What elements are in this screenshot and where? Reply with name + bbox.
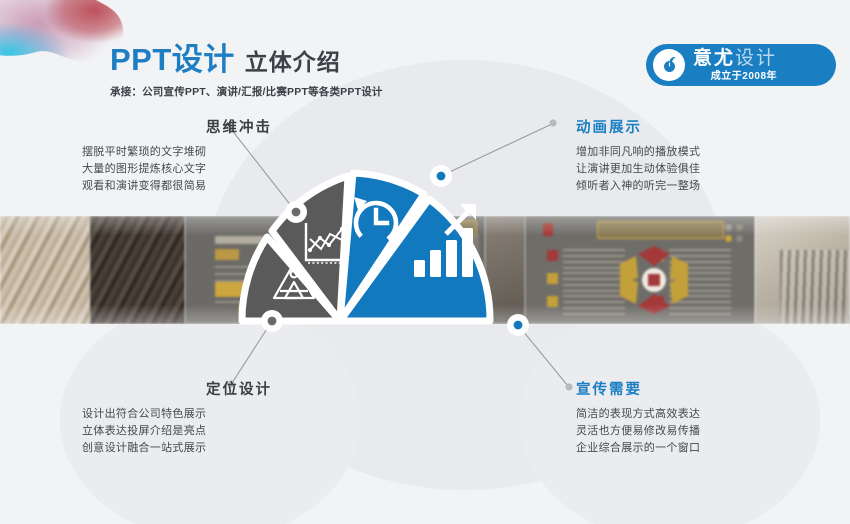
logo-name-bold: 意尤 xyxy=(693,48,735,69)
page-title-group: PPT设计立体介绍 承接：公司宣传PPT、演讲/汇报/比赛PPT等各类PPT设计 xyxy=(110,44,383,99)
feature-block-bottom-right: 宣传需要 简洁的表现方式高效表达 灵活也方便易修改易传播 企业综合展示的一个窗口 xyxy=(576,382,806,457)
feature-line-2: 大量的图形提炼核心文字 xyxy=(82,163,206,175)
feature-body: 增加非同凡响的播放模式 让演讲更加生动体验俱佳 倾听者入神的听完一整场 xyxy=(576,144,806,195)
logo-name-light: 设计 xyxy=(735,48,777,69)
feature-heading: 定位设计 xyxy=(82,382,304,399)
feature-body: 简洁的表现方式高效表达 灵活也方便易修改易传播 企业综合展示的一个窗口 xyxy=(576,406,806,457)
logo-name: 意尤设计 xyxy=(693,49,777,68)
feature-block-top-right: 动画展示 增加非同凡响的播放模式 让演讲更加生动体验俱佳 倾听者入神的听完一整场 xyxy=(576,120,806,195)
logo-text-group: 意尤设计 成立于2008年 xyxy=(693,49,777,82)
feature-line-3: 观看和演讲变得都很简易 xyxy=(82,180,206,192)
feature-line-2: 让演讲更加生动体验俱佳 xyxy=(576,163,700,175)
logo-badge xyxy=(653,49,685,81)
feature-line-1: 设计出符合公司特色展示 xyxy=(82,408,206,420)
slide-canvas: PPT设计立体介绍 承接：公司宣传PPT、演讲/汇报/比赛PPT等各类PPT设计… xyxy=(0,0,850,524)
brand-logo[interactable]: 意尤设计 成立于2008年 xyxy=(646,44,836,86)
feature-block-top-left: 思维冲击 摆脱平时繁琐的文字堆砌 大量的图形提炼核心文字 观看和演讲变得都很简易 xyxy=(82,120,304,195)
feature-line-2: 灵活也方便易修改易传播 xyxy=(576,425,700,437)
feature-line-2: 立体表达投屏介绍是亮点 xyxy=(82,425,206,437)
page-title: PPT设计立体介绍 xyxy=(110,44,383,75)
title-main-text: PPT设计 xyxy=(110,42,235,77)
feature-block-bottom-left: 定位设计 设计出符合公司特色展示 立体表达投屏介绍是亮点 创意设计融合一站式展示 xyxy=(82,382,304,457)
feature-body: 摆脱平时繁琐的文字堆砌 大量的图形提炼核心文字 观看和演讲变得都很简易 xyxy=(82,144,304,195)
feature-line-1: 增加非同凡响的播放模式 xyxy=(576,146,700,158)
feature-line-3: 创意设计融合一站式展示 xyxy=(82,442,206,454)
mouse-icon xyxy=(658,54,680,76)
feature-body: 设计出符合公司特色展示 立体表达投屏介绍是亮点 创意设计融合一站式展示 xyxy=(82,406,304,457)
page-subtitle: 承接：公司宣传PPT、演讲/汇报/比赛PPT等各类PPT设计 xyxy=(110,84,383,99)
feature-line-3: 企业综合展示的一个窗口 xyxy=(576,442,700,454)
feature-heading: 思维冲击 xyxy=(82,120,304,137)
logo-since: 成立于2008年 xyxy=(693,72,777,82)
feature-line-3: 倾听者入神的听完一整场 xyxy=(576,180,700,192)
feature-line-1: 摆脱平时繁琐的文字堆砌 xyxy=(82,146,206,158)
title-sub-text: 立体介绍 xyxy=(245,49,341,75)
feature-heading: 宣传需要 xyxy=(576,382,806,399)
feature-line-1: 简洁的表现方式高效表达 xyxy=(576,408,700,420)
feature-heading: 动画展示 xyxy=(576,120,806,137)
